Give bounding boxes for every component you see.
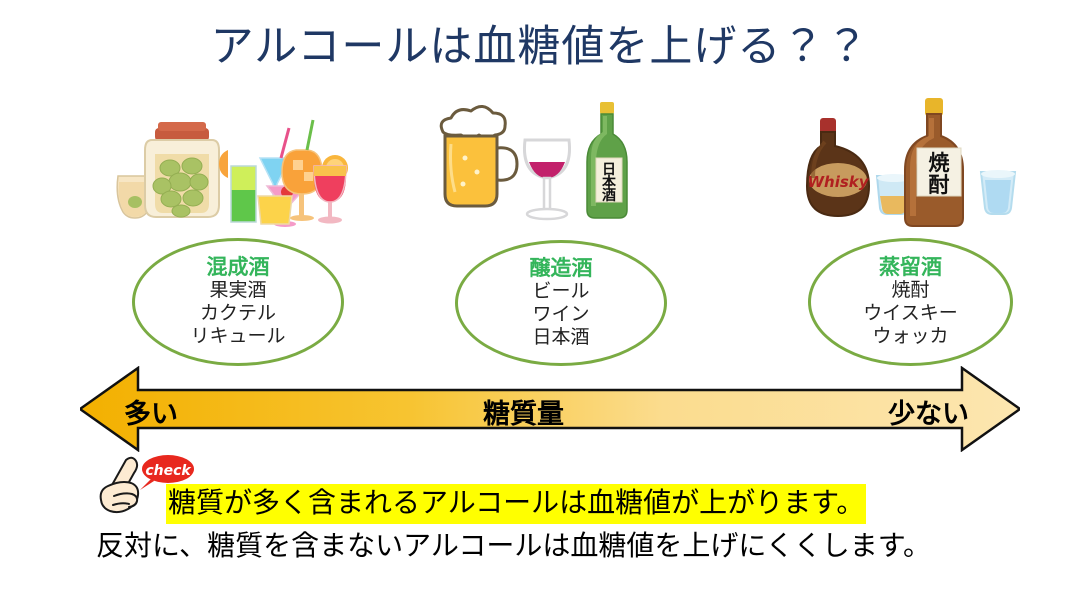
category-item: 日本酒 [532,326,589,349]
category-item: カクテル [200,302,276,325]
category-item: 焼酎 [891,279,929,302]
illustration-mixed-drinks [100,92,370,232]
note-secondary-line: 反対に、糖質を含まないアルコールは血糖値を上げにくくします。 [96,528,931,565]
category-heading-brewed: 醸造酒 [530,257,593,280]
category-item: 果実酒 [209,279,266,302]
check-pointing-hand-icon: check [96,452,204,524]
category-ellipse-brewed: 醸造酒 ビール ワイン 日本酒 [455,240,667,366]
category-item: ウイスキー [863,302,957,325]
category-heading-distilled: 蒸留酒 [879,256,942,279]
category-item: ビール [532,280,589,303]
slide-canvas: アルコールは血糖値を上げる？？ [0,0,1080,608]
svg-text:酎: 酎 [929,173,950,197]
svg-text:酒: 酒 [602,188,616,204]
arrow-label-sugar-amount: 糖質量 [483,392,564,431]
category-ellipse-distilled: 蒸留酒 焼酎 ウイスキー ウォッカ [808,238,1013,366]
illustration-distilled-drinks: Whisky 焼 酎 [785,92,1035,232]
note-highlighted-line: 糖質が多く含まれるアルコールは血糖値が上がります。 [166,484,866,524]
svg-text:Whisky: Whisky [807,173,869,191]
category-item: ワイン [532,303,589,326]
arrow-label-few: 少ない [888,392,969,431]
category-item: ウォッカ [872,325,948,348]
page-title: アルコールは血糖値を上げる？？ [0,12,1080,74]
category-ellipse-mixed: 混成酒 果実酒 カクテル リキュール [132,238,344,366]
svg-text:焼: 焼 [929,151,950,175]
category-item: リキュール [190,325,285,348]
illustration-brewed-drinks: 日 本 酒 [425,92,665,232]
check-badge-text: check [145,463,192,479]
arrow-label-many: 多い [124,392,178,431]
category-heading-mixed: 混成酒 [207,256,270,279]
